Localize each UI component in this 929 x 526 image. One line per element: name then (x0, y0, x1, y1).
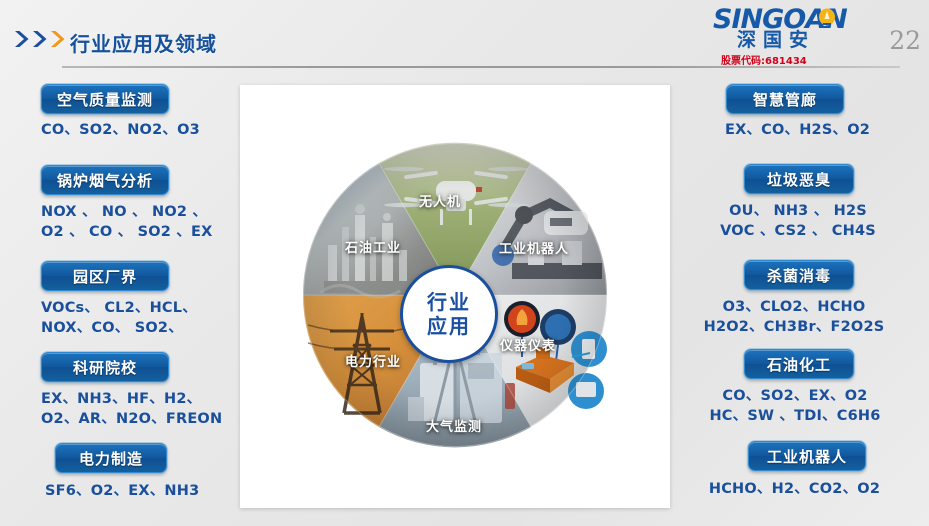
chevron-group (14, 29, 67, 49)
page-number: 22 (889, 26, 921, 55)
brand-cn-text: 深国安 (737, 31, 815, 50)
category-pill-park-boundary[interactable]: 园区厂界 (41, 261, 169, 291)
category-pill-research-institutes[interactable]: 科研院校 (41, 352, 169, 382)
stock-code-text: 股票代码:681434 (721, 52, 807, 67)
chevron-right-icon (50, 29, 67, 49)
category-pill-sterilization[interactable]: 杀菌消毒 (744, 260, 854, 290)
category-pill-air-quality[interactable]: 空气质量监测 (41, 84, 169, 114)
brand-logo: SINGOAN 深国安 股票代码:681434 (699, 2, 909, 66)
category-pill-boiler-flue-gas[interactable]: 锅炉烟气分析 (41, 165, 169, 195)
wheel-hub-line2: 应用 (427, 314, 471, 338)
gas-list-boiler-flue-gas: NOX 、 NO 、 NO2 、 O2 、 CO 、 SO2 、EX (41, 202, 246, 242)
gas-list-research-institutes: EX、NH3、HF、H2、 O2、AR、N2O、FREON (41, 389, 256, 429)
wheel-card: 无人机 工业机器人 仪器仪表 大气监测 电力行业 石油工业 行业 应用 (240, 85, 670, 508)
lightbulb-icon (817, 8, 837, 30)
gas-list-petrochemical: CO、SO2、EX、O2 HC、SW 、TDI、C6H6 (676, 386, 914, 426)
page-title: 行业应用及领域 (70, 28, 217, 57)
gas-list-garbage-odor: OU、 NH3 、 H2S VOC 、CS2 、 CH4S (684, 201, 912, 241)
category-pill-industrial-robot[interactable]: 工业机器人 (748, 441, 866, 471)
chevron-right-icon (14, 29, 31, 49)
gas-list-power-manufacturing: SF6、O2、EX、NH3 (45, 481, 245, 501)
gas-list-smart-pipe-gallery: EX、CO、H2S、O2 (690, 120, 905, 140)
category-pill-power-manufacturing[interactable]: 电力制造 (55, 443, 167, 473)
category-pill-garbage-odor[interactable]: 垃圾恶臭 (744, 164, 854, 194)
gas-list-industrial-robot: HCHO、H2、CO2、O2 (672, 479, 917, 499)
slide-root: 行业应用及领域 SINGOAN 深国安 股票代码:681434 22 空气质量监… (0, 0, 929, 526)
wheel-hub: 行业 应用 (400, 265, 498, 363)
chevron-right-icon (32, 29, 49, 49)
gas-list-sterilization: O3、CLO2、HCHO H2O2、CH3Br、F2O2S (668, 297, 920, 337)
wheel-hub-line1: 行业 (427, 290, 471, 314)
category-pill-smart-pipe-gallery[interactable]: 智慧管廊 (726, 84, 844, 114)
category-pill-petrochemical[interactable]: 石油化工 (744, 349, 854, 379)
industry-application-wheel: 无人机 工业机器人 仪器仪表 大气监测 电力行业 石油工业 行业 应用 (300, 95, 610, 495)
gas-list-park-boundary: VOCs、 CL2、HCL、 NOX、CO、 SO2、 (41, 298, 246, 338)
gas-list-air-quality: CO、SO2、NO2、O3 (41, 120, 241, 140)
